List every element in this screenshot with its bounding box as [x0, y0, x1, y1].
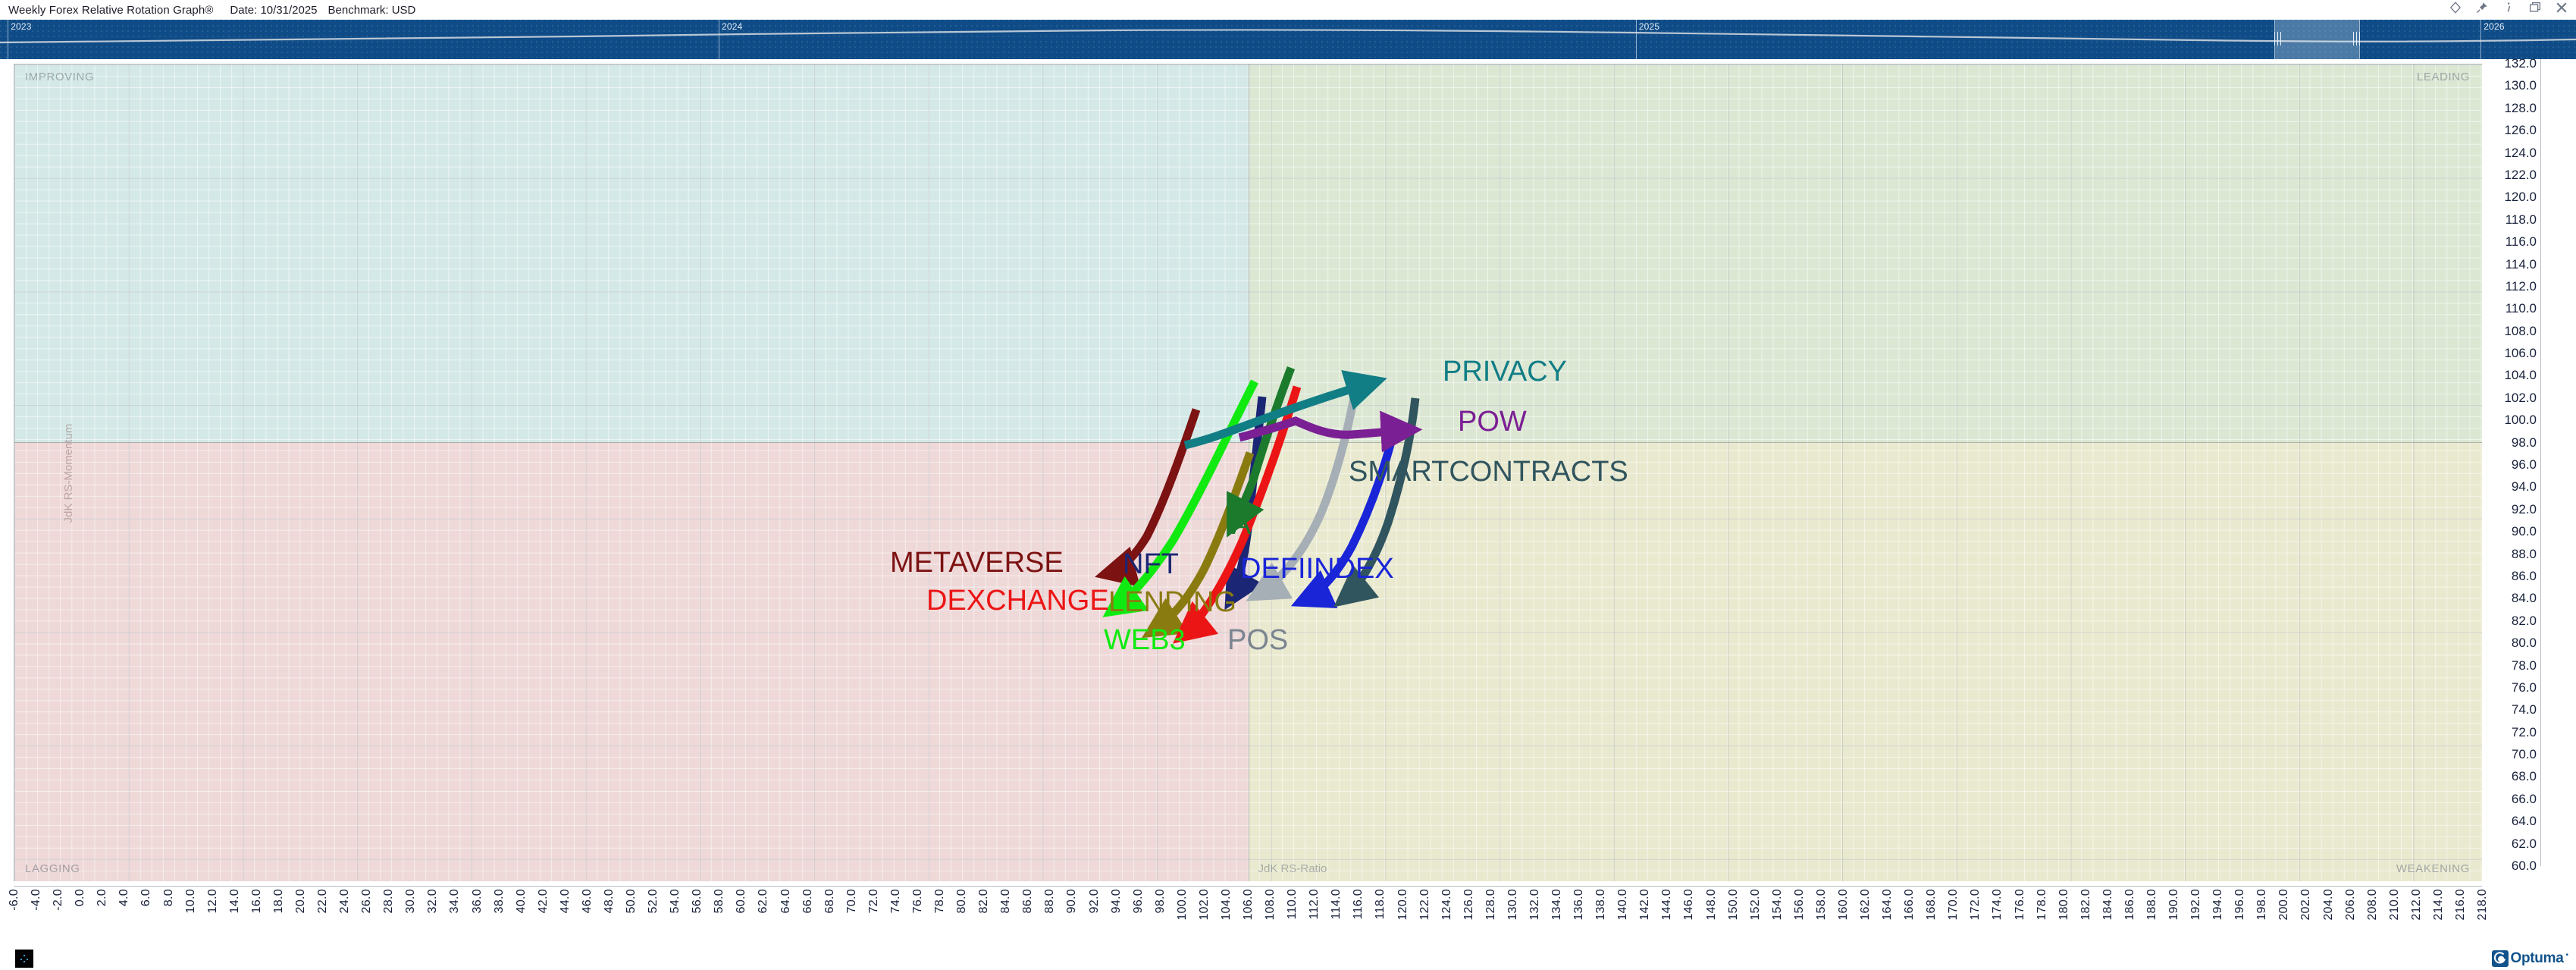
x-axis-tick: 166.0: [1903, 889, 1916, 921]
x-axis-tick: 172.0: [1969, 889, 1982, 921]
x-axis-tick: 46.0: [581, 889, 594, 913]
y-axis-tick: 126.0: [2504, 123, 2537, 138]
y-axis-tick: 104.0: [2504, 368, 2537, 383]
x-axis-tick: 144.0: [1660, 889, 1674, 921]
x-axis-tick: -2.0: [52, 889, 65, 911]
y-axis-tick: 118.0: [2505, 212, 2537, 228]
x-axis-tick: 126.0: [1462, 889, 1476, 921]
y-axis-tick: 120.0: [2504, 190, 2537, 205]
info-icon[interactable]: [2502, 1, 2515, 14]
navigator-year-2026: 2026: [2480, 21, 2505, 32]
x-axis-tick: 104.0: [1220, 889, 1233, 921]
y-axis-tick: 66.0: [2512, 792, 2537, 807]
x-axis-tick: 106.0: [1242, 889, 1255, 921]
x-axis-tick: 28.0: [382, 889, 396, 913]
x-axis-tick: 20.0: [294, 889, 308, 913]
x-axis-tick: 206.0: [2344, 889, 2358, 921]
optuma-logo-text: Optuma: [2511, 950, 2564, 967]
y-axis-tick: 128.0: [2504, 101, 2537, 116]
x-axis-tick: 118.0: [1374, 889, 1387, 919]
chart-plot-wrapper: IMPROVING LEADING LAGGING WEAKENING JdK …: [0, 59, 2576, 886]
y-axis-tick: 88.0: [2512, 547, 2537, 562]
navigator-year-2024: 2024: [719, 21, 743, 32]
x-axis-tick: 34.0: [448, 889, 462, 913]
y-axis-tick: 112.0: [2505, 279, 2537, 294]
x-axis-tick: 214.0: [2432, 889, 2446, 921]
app-glyph-icon[interactable]: [15, 950, 33, 968]
x-axis-tick: 136.0: [1572, 889, 1586, 921]
navigator-year-2023: 2023: [8, 21, 32, 32]
x-axis-tick: 96.0: [1132, 889, 1145, 913]
y-axis-tick: 108.0: [2504, 324, 2537, 339]
x-axis-tick: 120.0: [1396, 889, 1410, 921]
x-axis-tick: 14.0: [228, 889, 242, 913]
x-axis-tick: 6.0: [139, 889, 153, 906]
x-axis-tick: 70.0: [845, 889, 859, 913]
y-axis-tick: 74.0: [2512, 702, 2537, 717]
rrg-plot-area[interactable]: IMPROVING LEADING LAGGING WEAKENING JdK …: [14, 64, 2482, 881]
y-axis-tick: 132.0: [2504, 56, 2537, 71]
x-axis-tick: 52.0: [647, 889, 660, 913]
x-axis-tick: 108.0: [1264, 889, 1277, 921]
y-axis-tick: 96.0: [2512, 457, 2537, 472]
y-axis-rule: [2540, 59, 2541, 866]
x-axis-tick: 100.0: [1176, 889, 1189, 921]
x-axis-tick: 212.0: [2410, 889, 2424, 921]
y-axis-tick: 70.0: [2512, 747, 2537, 762]
y-axis-tick: 80.0: [2512, 636, 2537, 651]
x-axis-tick: 196.0: [2233, 889, 2247, 921]
y-axis-tick: 90.0: [2512, 524, 2537, 539]
x-axis-tick: 138.0: [1594, 889, 1608, 921]
x-axis-tick: 10.0: [184, 889, 198, 913]
x-axis-tick: 40.0: [515, 889, 528, 913]
x-axis-tick: -4.0: [30, 889, 43, 911]
x-axis-tick: 198.0: [2255, 889, 2269, 921]
x-axis-tick: 178.0: [2035, 889, 2049, 921]
x-axis-tick: 54.0: [669, 889, 682, 913]
x-axis-tick: 204.0: [2322, 889, 2336, 921]
x-axis-tick: 180.0: [2057, 889, 2071, 921]
x-axis-tick: 18.0: [272, 889, 286, 913]
x-axis-tick: 130.0: [1506, 889, 1520, 921]
x-axis-tick: 92.0: [1088, 889, 1102, 913]
y-axis-tick: 92.0: [2512, 502, 2537, 517]
navigator-handle-left[interactable]: [2274, 32, 2281, 46]
x-axis-tick: 194.0: [2211, 889, 2225, 921]
x-axis-tick: 116.0: [1352, 889, 1365, 919]
optuma-logo-mark: [2492, 950, 2509, 967]
window-controls: [2449, 1, 2568, 14]
x-axis-tick: 60.0: [735, 889, 748, 913]
y-axis-tick: 94.0: [2512, 479, 2537, 494]
x-axis-tick: 110.0: [1286, 889, 1299, 919]
x-axis-tick: 66.0: [801, 889, 815, 913]
x-axis-tick: 74.0: [889, 889, 903, 913]
x-axis-tick: 162.0: [1859, 889, 1872, 921]
x-axis-tick: 24.0: [338, 889, 352, 913]
x-axis-tick: 122.0: [1418, 889, 1432, 921]
window-title-bar: Weekly Forex Relative Rotation Graph® Da…: [0, 0, 2576, 20]
x-axis-tick: 50.0: [625, 889, 638, 913]
x-axis-tick: 192.0: [2189, 889, 2203, 921]
x-axis[interactable]: -6.0-4.0-2.00.02.04.06.08.010.012.014.01…: [14, 886, 2482, 946]
x-axis-tick: 88.0: [1043, 889, 1057, 913]
trail-metaverse: [1106, 410, 1196, 574]
y-axis-tick: 98.0: [2512, 435, 2537, 450]
diamond-icon[interactable]: [2449, 1, 2462, 14]
y-axis-tick: 106.0: [2504, 346, 2537, 361]
y-axis-tick: 76.0: [2512, 680, 2537, 695]
x-axis-tick: 186.0: [2123, 889, 2137, 921]
y-axis-tick: 110.0: [2505, 301, 2537, 316]
y-axis[interactable]: 132.0130.0128.0126.0124.0122.0120.0118.0…: [2482, 59, 2576, 886]
x-axis-tick: 146.0: [1682, 889, 1696, 921]
x-axis-tick: 174.0: [1991, 889, 2004, 921]
rrg-application-window: Weekly Forex Relative Rotation Graph® Da…: [0, 0, 2576, 970]
x-axis-tick: 168.0: [1925, 889, 1938, 921]
x-axis-tick: 128.0: [1484, 889, 1498, 921]
y-axis-tick: 122.0: [2504, 168, 2537, 183]
x-axis-tick: 134.0: [1550, 889, 1564, 921]
x-axis-tick: 90.0: [1065, 889, 1079, 913]
y-axis-tick: 130.0: [2504, 78, 2537, 93]
x-axis-tick: 202.0: [2299, 889, 2313, 921]
chart-date-label: Date: 10/31/2025: [230, 4, 317, 17]
x-axis-tick: 16.0: [250, 889, 264, 913]
y-axis-tick: 116.0: [2505, 234, 2537, 250]
x-axis-tick: 148.0: [1705, 889, 1719, 921]
x-axis-tick: 64.0: [779, 889, 793, 913]
x-axis-tick: 124.0: [1440, 889, 1454, 921]
y-axis-tick: 62.0: [2512, 837, 2537, 852]
x-axis-tick: 42.0: [537, 889, 550, 913]
x-axis-tick: 182.0: [2079, 889, 2093, 921]
pin-icon[interactable]: [2475, 1, 2489, 14]
x-axis-tick: 216.0: [2454, 889, 2468, 921]
x-axis-tick: 190.0: [2167, 889, 2181, 921]
x-axis-tick: 176.0: [2013, 889, 2027, 921]
y-axis-tick: 84.0: [2512, 591, 2537, 606]
y-axis-tick: 72.0: [2512, 725, 2537, 740]
x-axis-tick: 208.0: [2366, 889, 2380, 921]
x-axis-tick: 150.0: [1727, 889, 1741, 921]
x-axis-tick: 56.0: [691, 889, 704, 913]
y-axis-tick: 78.0: [2512, 658, 2537, 673]
x-axis-tick: -6.0: [8, 889, 21, 911]
y-axis-tick: 100.0: [2504, 413, 2537, 428]
x-axis-tick: 12.0: [206, 889, 220, 913]
x-axis-tick: 26.0: [360, 889, 374, 913]
x-axis-tick: 114.0: [1330, 889, 1343, 919]
x-axis-tick: 152.0: [1749, 889, 1763, 921]
x-axis-tick: 22.0: [316, 889, 330, 913]
x-axis-rule: [14, 886, 2482, 887]
x-axis-tick: 170.0: [1947, 889, 1960, 921]
y-axis-tick: 64.0: [2512, 814, 2537, 829]
x-axis-tick: 164.0: [1881, 889, 1894, 921]
navigator-sparkline: [0, 20, 2576, 59]
x-axis-tick: 0.0: [74, 889, 87, 906]
x-axis-tick: 210.0: [2388, 889, 2402, 921]
x-axis-tick: 32.0: [426, 889, 440, 913]
navigator-handle-right[interactable]: [2353, 32, 2360, 46]
y-axis-tick: 114.0: [2505, 257, 2537, 272]
timeline-navigator[interactable]: 2023 2024 2025 2026: [0, 20, 2576, 59]
benchmark-label: Benchmark: USD: [328, 4, 416, 17]
x-axis-tick: 48.0: [603, 889, 616, 913]
x-axis-tick: 38.0: [493, 889, 506, 913]
x-axis-tick: 86.0: [1021, 889, 1035, 913]
x-axis-tick: 158.0: [1815, 889, 1829, 921]
x-axis-tick: 112.0: [1308, 889, 1321, 919]
page-title: Weekly Forex Relative Rotation Graph®: [8, 4, 213, 17]
x-axis-tick: 72.0: [867, 889, 881, 913]
x-axis-tick: 84.0: [999, 889, 1013, 913]
optuma-logo: Optuma •: [2492, 950, 2569, 967]
status-bar: Optuma •: [0, 946, 2576, 970]
navigator-year-2025: 2025: [1636, 21, 1660, 32]
y-axis-tick: 124.0: [2504, 146, 2537, 161]
x-axis-tick: 8.0: [162, 889, 176, 906]
x-axis-tick: 94.0: [1110, 889, 1123, 913]
x-axis-tick: 58.0: [713, 889, 726, 913]
optuma-logo-trademark: •: [2565, 951, 2568, 959]
x-axis-tick: 2.0: [96, 889, 109, 906]
x-axis-tick: 160.0: [1837, 889, 1851, 921]
x-axis-tick: 30.0: [404, 889, 418, 913]
x-axis-tick: 82.0: [977, 889, 991, 913]
x-axis-tick: 188.0: [2145, 889, 2159, 921]
x-axis-tick: 4.0: [118, 889, 131, 906]
x-axis-tick: 132.0: [1528, 889, 1542, 921]
x-axis-tick: 140.0: [1616, 889, 1630, 921]
trail-lending: [1152, 453, 1250, 632]
x-axis-tick: 200.0: [2277, 889, 2291, 921]
x-axis-tick: 142.0: [1638, 889, 1652, 921]
x-axis-tick: 76.0: [911, 889, 925, 913]
restore-window-icon[interactable]: [2528, 1, 2542, 14]
y-axis-tick: 82.0: [2512, 614, 2537, 629]
x-axis-tick: 218.0: [2476, 889, 2490, 921]
x-axis-tick: 184.0: [2101, 889, 2115, 921]
y-axis-tick: 68.0: [2512, 769, 2537, 784]
x-axis-tick: 78.0: [933, 889, 947, 913]
x-axis-tick: 98.0: [1154, 889, 1167, 913]
y-axis-tick: 86.0: [2512, 569, 2537, 584]
x-axis-tick: 44.0: [559, 889, 572, 913]
x-axis-tick: 68.0: [823, 889, 837, 913]
close-icon[interactable]: [2555, 1, 2568, 14]
x-axis-tick: 80.0: [955, 889, 969, 913]
navigator-selection-window[interactable]: [2274, 20, 2359, 59]
x-axis-tick: 62.0: [757, 889, 770, 913]
y-axis-tick: 102.0: [2504, 391, 2537, 406]
rotation-trails: [14, 64, 2482, 881]
x-axis-tick: 156.0: [1793, 889, 1807, 921]
x-axis-tick: 102.0: [1198, 889, 1211, 921]
y-axis-tick: 60.0: [2512, 859, 2537, 874]
x-axis-tick: 36.0: [471, 889, 484, 913]
x-axis-tick: 154.0: [1771, 889, 1785, 921]
